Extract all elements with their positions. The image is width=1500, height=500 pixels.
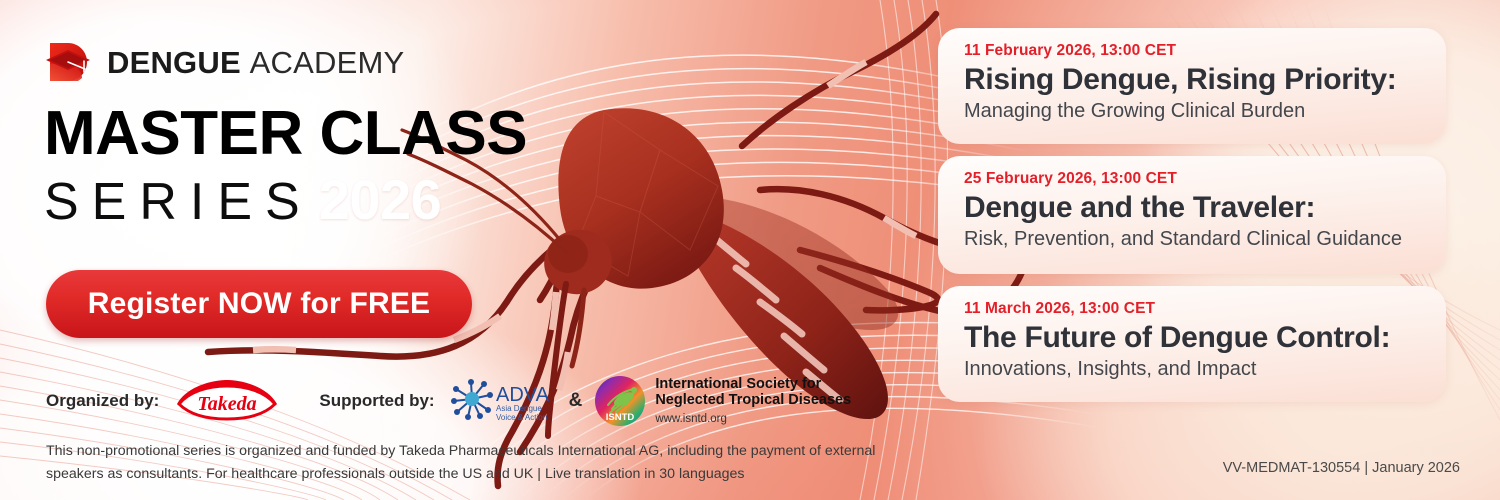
brand-name: DENGUE ACADEMY [107,47,404,78]
supported-by-label: Supported by: [319,391,434,411]
dengue-academy-graduation-cap-icon [44,38,92,86]
register-button[interactable]: Register NOW for FREE [46,270,472,338]
session-title: The Future of Dengue Control: [964,321,1424,355]
ampersand-separator: & [569,390,583,412]
adva-sub-line2: Voice & Action [496,413,547,422]
adva-sub-line1: Asia Dengue [496,404,542,413]
session-date: 11 February 2026, 13:00 CET [964,42,1424,60]
hero-content: DENGUE ACADEMY MASTER CLASS SERIES2026 R… [0,0,560,500]
series-line: SERIES2026 [44,172,441,228]
session-date: 25 February 2026, 13:00 CET [964,170,1424,188]
disclaimer-text: This non-promotional series is organized… [46,440,926,486]
isntd-badge-text: ISNTD [606,412,635,423]
promotional-banner: DENGUE ACADEMY MASTER CLASS SERIES2026 R… [0,0,1500,500]
document-code: VV-MEDMAT-130554 | January 2026 [1223,460,1460,476]
series-word: SERIES [44,173,313,231]
isntd-line-1: International Society for [655,376,851,393]
adva-wordmark: ADVA [496,384,550,406]
session-title: Rising Dengue, Rising Priority: [964,63,1424,97]
isntd-line-2: Neglected Tropical Diseases [655,392,851,409]
series-year: 2026 [319,168,442,231]
isntd-url: www.isntd.org [655,413,851,426]
takeda-logo: Takeda [173,380,281,422]
page-title: MASTER CLASS [44,102,527,165]
session-card-list: 11 February 2026, 13:00 CET Rising Dengu… [938,28,1446,414]
brand-name-light: ACADEMY [250,45,405,80]
session-card[interactable]: 11 March 2026, 13:00 CET The Future of D… [938,286,1446,402]
partners-row: Organized by: Takeda Supported by: [46,378,851,424]
takeda-wordmark: Takeda [198,393,257,415]
brand-name-bold: DENGUE [107,45,241,80]
session-title: Dengue and the Traveler: [964,191,1424,225]
session-subtitle: Managing the Growing Clinical Burden [964,99,1424,124]
session-subtitle: Risk, Prevention, and Standard Clinical … [964,227,1424,252]
session-date: 11 March 2026, 13:00 CET [964,300,1424,318]
brand-lockup: DENGUE ACADEMY [44,38,404,86]
adva-logo: ADVA Asia Dengue Voice & Action [448,379,556,423]
organized-by-label: Organized by: [46,391,159,411]
isntd-name-block: International Society for Neglected Trop… [655,376,851,427]
session-subtitle: Innovations, Insights, and Impact [964,357,1424,382]
session-card[interactable]: 25 February 2026, 13:00 CET Dengue and t… [938,156,1446,274]
session-card[interactable]: 11 February 2026, 13:00 CET Rising Dengu… [938,28,1446,144]
isntd-logo-mark: ISNTD [594,375,646,427]
